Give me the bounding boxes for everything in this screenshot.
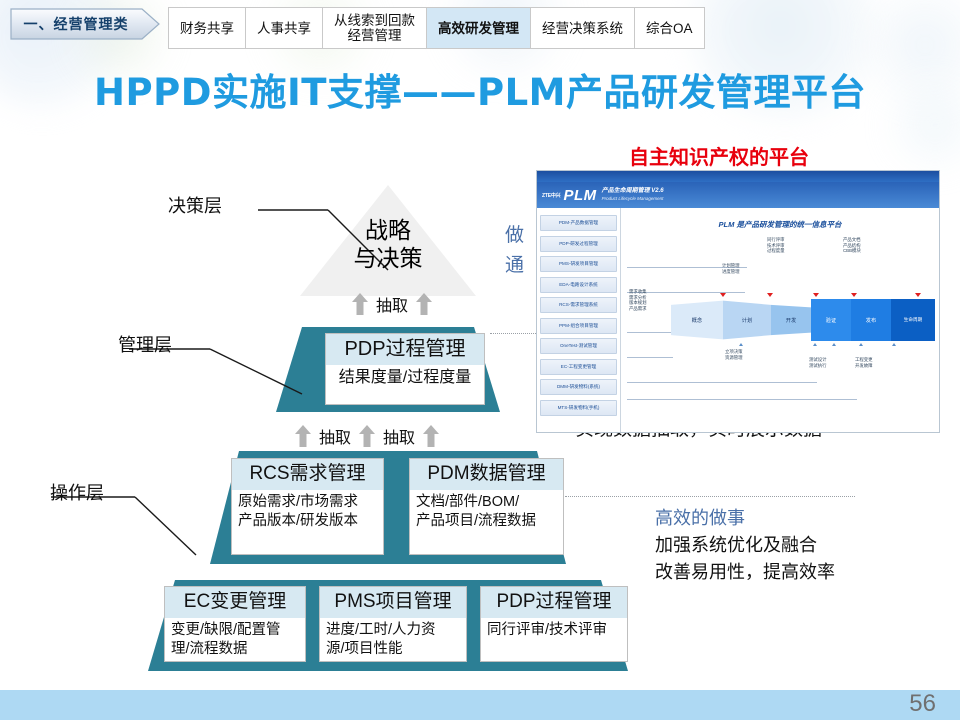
- tab-caiwu-gongxiang[interactable]: 财务共享: [168, 7, 246, 49]
- milestone-marker-icon: [720, 293, 726, 297]
- apex-line-2: 与决策: [328, 244, 448, 272]
- box-title: EC变更管理: [165, 587, 305, 618]
- apex-line-1: 战略: [328, 216, 448, 244]
- plm-process-diagram: 概念 计划 开发 验证 发布 生命周期: [627, 237, 933, 415]
- plm-brand-logo: PLM: [563, 187, 596, 204]
- efficiency-note-block: 高效的做事 加强系统优化及融合 改善易用性，提高效率: [655, 505, 835, 586]
- note-engineering-change: 工程变更 开发故障: [855, 357, 873, 368]
- plm-sidebar-item-onetest[interactable]: OneTest-测试管理: [540, 338, 617, 354]
- layer-label-operation: 操作层: [50, 479, 104, 505]
- plm-sidebar-item-pdm[interactable]: PDM-产品数据管理: [540, 215, 617, 231]
- note-left-requirements: 需求收集 需求分析 版本规划 产品需求: [629, 289, 647, 311]
- flow-arrow-icon: [892, 343, 896, 346]
- plm-header: ZTE中兴 PLM 产品生命周期管理 V2.6 Product Lifecycl…: [537, 182, 939, 208]
- milestone-marker-icon: [767, 293, 773, 297]
- page-title: HPPD实施IT支撑——PLM产品研发管理平台: [0, 62, 960, 116]
- note-project-decision: 立项决策 资源管理: [725, 349, 743, 360]
- plm-sidebar-item-ppm[interactable]: PPM-组合项目管理: [540, 318, 617, 334]
- plm-app-screenshot[interactable]: ZTE中兴 PLM 产品生命周期管理 V2.6 Product Lifecycl…: [536, 170, 940, 433]
- note-peer-review: 同行评审 技术评审 过程度量: [767, 237, 785, 254]
- box-title: PMS项目管理: [320, 587, 466, 618]
- box-title: PDP过程管理: [481, 587, 627, 618]
- plm-zte-logo: ZTE中兴: [542, 192, 560, 199]
- milestone-marker-icon: [813, 293, 819, 297]
- box-rcs-requirement-management[interactable]: RCS需求管理 原始需求/市场需求 产品版本/研发版本: [231, 458, 384, 555]
- stage-fabu: 发布: [851, 299, 891, 341]
- plm-sidebar[interactable]: PDM-产品数据管理 PDP-研发过程管理 PMS-研发项目管理 EDA-电路设…: [537, 208, 621, 433]
- box-body: 原始需求/市场需求 产品版本/研发版本: [232, 490, 383, 535]
- footer-bar: [0, 690, 960, 720]
- plm-sidebar-item-pdp[interactable]: PDP-研发过程管理: [540, 236, 617, 252]
- behind-text-line-1: 做: [505, 222, 524, 250]
- extract-label: 抽取: [383, 424, 415, 448]
- efficiency-heading: 高效的做事: [655, 505, 835, 532]
- up-arrow-icon: [352, 293, 368, 315]
- box-pms-project-management[interactable]: PMS项目管理 进度/工时/人力资 源/项目性能: [319, 586, 467, 662]
- box-pdm-data-management[interactable]: PDM数据管理 文档/部件/BOM/ 产品项目/流程数据: [409, 458, 564, 555]
- plm-sidebar-item-mts[interactable]: MTS-研发物料(手机): [540, 400, 617, 416]
- plm-brand-en: Product Lifecycle Management: [602, 195, 664, 202]
- plm-sidebar-item-pms[interactable]: PMS-研发项目管理: [540, 256, 617, 272]
- note-product-doc: 产品文档 产品结构 CBB模块: [843, 237, 861, 254]
- section-chevron-tag[interactable]: 一、经营管理类: [10, 8, 160, 40]
- tab-jingying-juece-xitong[interactable]: 经营决策系统: [531, 7, 635, 49]
- plm-main-title: PLM 是产品研发管理的统一信息平台: [627, 219, 933, 230]
- tab-renshi-gongxiang[interactable]: 人事共享: [246, 7, 323, 49]
- plm-sidebar-item-rcs[interactable]: RCS-需求管理系统: [540, 297, 617, 313]
- tab-gaoxiao-yanfa-guanli[interactable]: 高效研发管理: [427, 7, 531, 49]
- tab-label-line2: 经营管理: [334, 28, 415, 43]
- tab-label: 高效研发管理: [438, 21, 519, 36]
- tab-label: 综合OA: [646, 21, 693, 36]
- plm-funnel: 概念 计划 开发 验证 发布 生命周期: [671, 299, 935, 341]
- flow-arrow-icon: [832, 343, 836, 346]
- flow-arrow-icon: [859, 343, 863, 346]
- tab-label-line1: 从线索到回款: [334, 13, 415, 28]
- milestone-marker-icon: [851, 293, 857, 297]
- box-title: RCS需求管理: [232, 459, 383, 490]
- extract-label: 抽取: [376, 292, 408, 316]
- section-chevron-label: 一、经营管理类: [10, 8, 142, 40]
- plm-main-panel: PLM 是产品研发管理的统一信息平台 概念 计划 开发 验证 发布 生命周期: [621, 208, 939, 433]
- efficiency-line-1: 加强系统优化及融合: [655, 532, 835, 559]
- page-number: 56: [909, 690, 936, 718]
- milestone-marker-icon: [915, 293, 921, 297]
- extract-arrows-row-2: 抽取 抽取: [295, 424, 439, 448]
- up-arrow-icon: [423, 425, 439, 447]
- stage-jihua: 计划: [723, 299, 771, 341]
- efficiency-line-2: 改善易用性，提高效率: [655, 559, 835, 586]
- layer-label-decision: 决策层: [168, 192, 222, 218]
- tab-label: 财务共享: [180, 21, 234, 36]
- plm-sidebar-item-eda[interactable]: EDA-电路设计系统: [540, 277, 617, 293]
- ip-platform-heading: 自主知识产权的平台: [629, 141, 809, 170]
- layer-label-management: 管理层: [118, 331, 172, 357]
- up-arrow-icon: [359, 425, 375, 447]
- box-title: PDP过程管理: [326, 334, 484, 365]
- box-body: 结果度量/过程度量: [326, 365, 484, 391]
- top-nav-tabs[interactable]: 财务共享 人事共享 从线索到回款 经营管理 高效研发管理 经营决策系统 综合OA: [168, 7, 705, 49]
- flow-arrow-icon: [739, 343, 743, 346]
- box-ec-change-management[interactable]: EC变更管理 变更/缺限/配置管 理/流程数据: [164, 586, 306, 662]
- behind-text-line-2: 通: [505, 252, 524, 280]
- box-pdp-process-management-l2[interactable]: PDP过程管理 结果度量/过程度量: [325, 333, 485, 405]
- extract-label: 抽取: [319, 424, 351, 448]
- dotted-connector-lower: [565, 496, 855, 497]
- box-body: 同行评审/技术评审: [481, 618, 627, 644]
- note-test-design: 测试设计 测试执行: [809, 357, 827, 368]
- pyramid-apex-label: 战略 与决策: [328, 216, 448, 272]
- box-body: 变更/缺限/配置管 理/流程数据: [165, 618, 305, 663]
- stage-kaifa: 开发: [771, 299, 811, 341]
- box-body: 文档/部件/BOM/ 产品项目/流程数据: [410, 490, 563, 535]
- plm-brand-cn: 产品生命周期管理 V2.6: [602, 188, 664, 195]
- stage-shengmingzhouqi: 生命周期: [891, 299, 935, 341]
- box-pdp-process-management-l4[interactable]: PDP过程管理 同行评审/技术评审: [480, 586, 628, 662]
- extract-arrows-row-1: 抽取: [352, 292, 432, 316]
- up-arrow-icon: [295, 425, 311, 447]
- box-title: PDM数据管理: [410, 459, 563, 490]
- stage-yanzheng: 验证: [811, 299, 851, 341]
- up-arrow-icon: [416, 293, 432, 315]
- tab-zonghe-oa[interactable]: 综合OA: [635, 7, 705, 49]
- plm-sidebar-item-ec[interactable]: EC-工程变更管理: [540, 359, 617, 375]
- plm-sidebar-item-dmm[interactable]: DMM-研发物料(系统): [540, 379, 617, 395]
- stage-gainian: 概念: [671, 299, 723, 341]
- tab-label: 经营决策系统: [542, 21, 623, 36]
- note-plan-management: 计划管理 进度管理: [722, 263, 740, 274]
- tab-label: 人事共享: [257, 21, 311, 36]
- flow-arrow-icon: [813, 343, 817, 346]
- tab-xiansuo-daohuikuan[interactable]: 从线索到回款 经营管理: [323, 7, 427, 49]
- box-body: 进度/工时/人力资 源/项目性能: [320, 618, 466, 663]
- plm-titlebar: [537, 171, 939, 182]
